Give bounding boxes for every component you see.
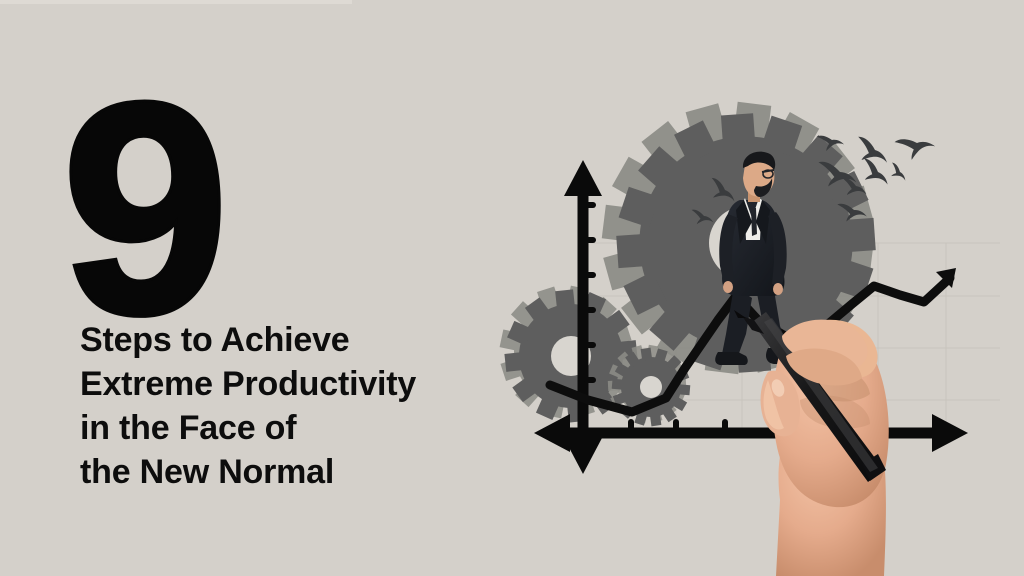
headline-line-4: the New Normal	[80, 450, 510, 494]
headline-line-2: Extreme Productivity	[80, 362, 510, 406]
illustration-collage	[480, 0, 1024, 576]
headline-line-3: in the Face of	[80, 406, 510, 450]
big-number-nine: 9	[62, 58, 217, 358]
top-edge-band	[0, 0, 352, 4]
page-title: Steps to Achieve Extreme Productivity in…	[80, 318, 510, 494]
slide-canvas: 9 Steps to Achieve Extreme Productivity …	[0, 0, 1024, 576]
headline-line-1: Steps to Achieve	[80, 318, 510, 362]
